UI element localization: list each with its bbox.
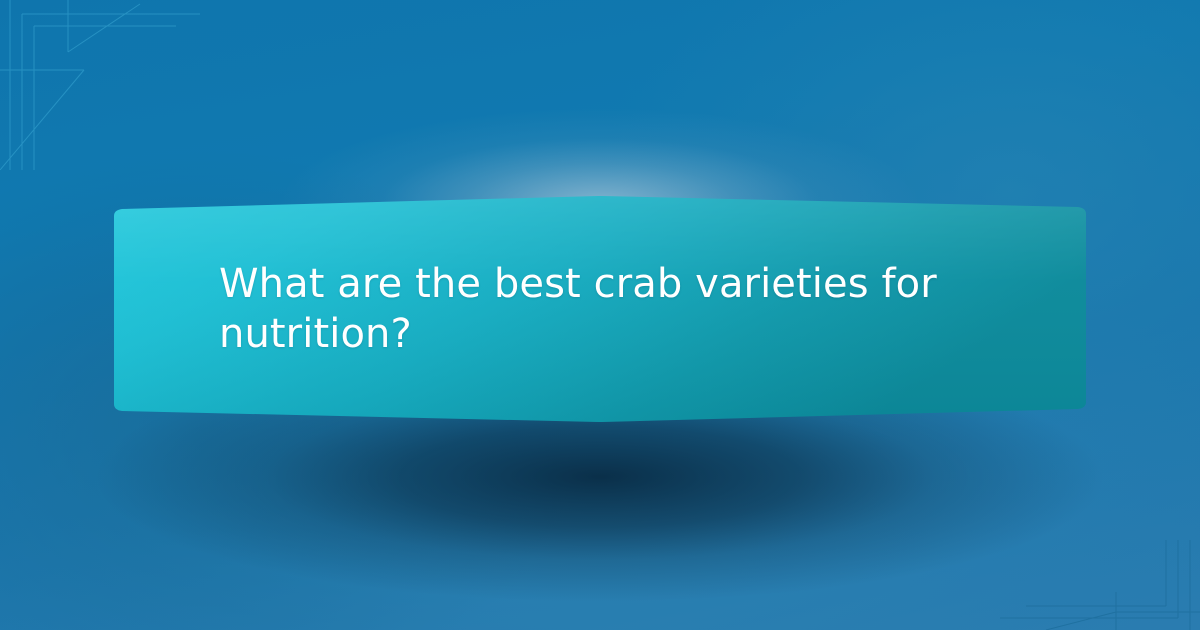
bottom-right-corner-decoration-icon — [960, 540, 1200, 630]
question-title: What are the best crab varieties for nut… — [219, 259, 1040, 359]
question-card-text-area: What are the best crab varieties for nut… — [100, 196, 1100, 426]
question-card: What are the best crab varieties for nut… — [100, 196, 1100, 426]
top-left-corner-decoration-icon — [0, 0, 240, 170]
question-card-canvas: What are the best crab varieties for nut… — [0, 0, 1200, 630]
